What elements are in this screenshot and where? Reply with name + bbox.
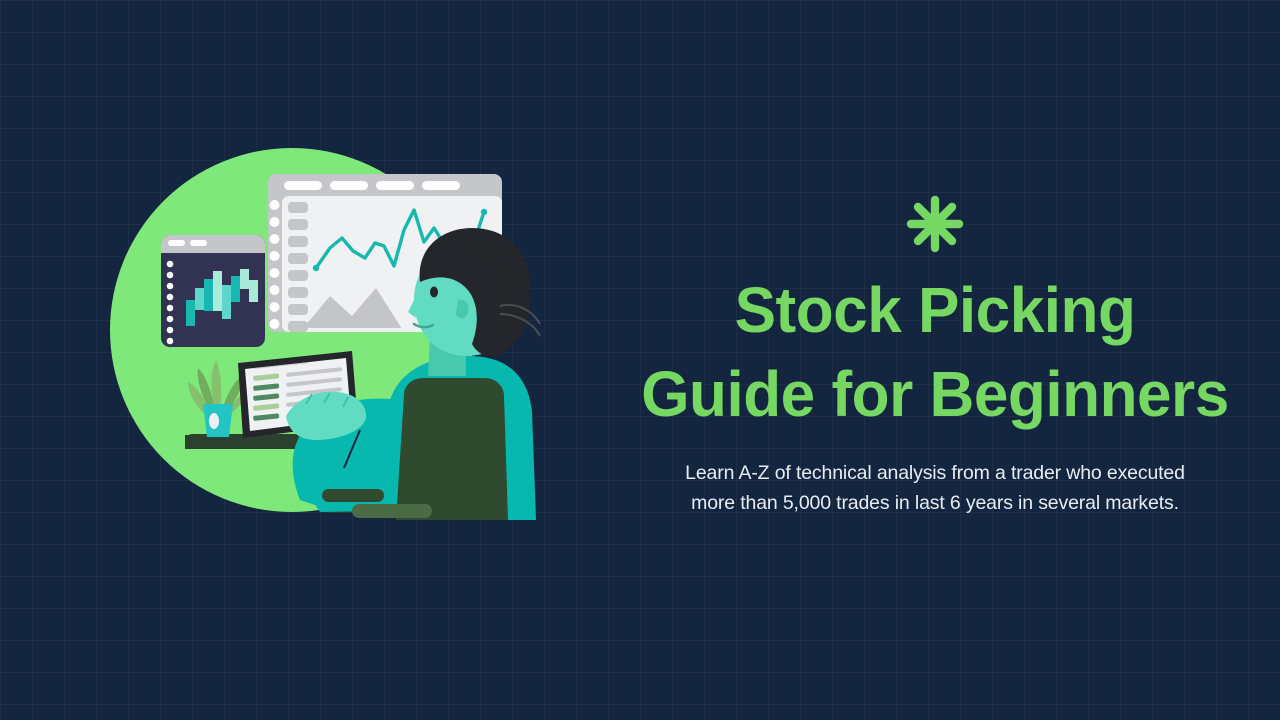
- page-title-line-1: Stock Picking: [600, 268, 1269, 352]
- asterisk-icon: [903, 192, 967, 256]
- page-title: Stock Picking Guide for Beginners: [600, 268, 1269, 437]
- page-subtitle-line-1: Learn A-Z of technical analysis from a t…: [625, 459, 1245, 489]
- candlestick-titlebar-button-2: [190, 240, 207, 246]
- page-subtitle-line-2: more than 5,000 trades in last 6 years i…: [625, 489, 1245, 519]
- page-title-line-2: Guide for Beginners: [600, 352, 1269, 436]
- page-subtitle: Learn A-Z of technical analysis from a t…: [625, 459, 1245, 518]
- chair-back: [396, 378, 508, 520]
- candlestick-titlebar-button-1: [168, 240, 185, 246]
- chair-base-front: [352, 504, 432, 518]
- trader-illustration: [0, 0, 600, 720]
- candlestick-chart-window: [161, 235, 265, 347]
- slide-root: Stock Picking Guide for Beginners Learn …: [0, 0, 1280, 720]
- text-column: Stock Picking Guide for Beginners Learn …: [590, 0, 1280, 720]
- line-chart-start-dot: [313, 265, 319, 271]
- person-eye: [430, 287, 438, 298]
- asterisk-icon-svg: [903, 192, 967, 256]
- chair-foot-left: [322, 489, 384, 502]
- plant-pot-highlight: [209, 413, 219, 429]
- line-chart-end-dot: [481, 209, 487, 215]
- illustration-svg: [0, 0, 600, 720]
